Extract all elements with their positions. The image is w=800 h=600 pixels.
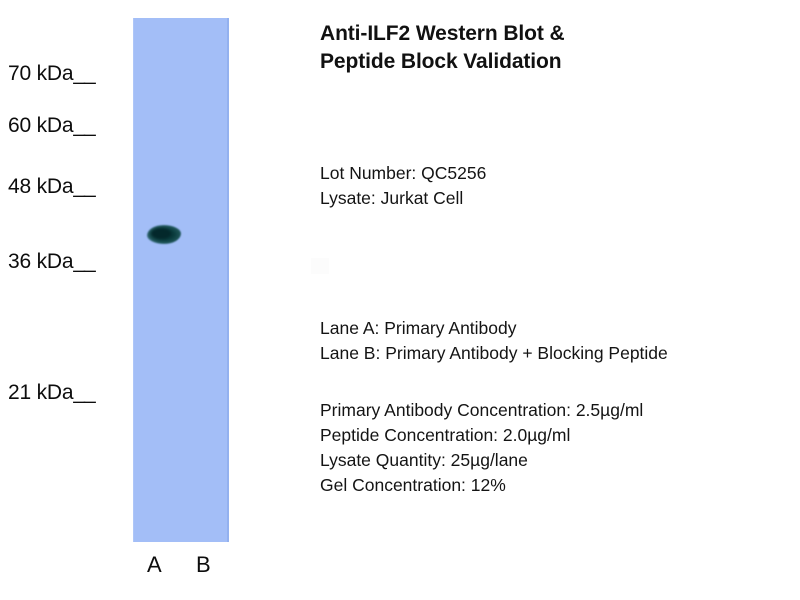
ladder-marker-36: 36 kDa__: [8, 250, 95, 274]
lysate-quantity-line: Lysate Quantity: 25µg/lane: [320, 448, 800, 473]
ladder-tick-icon: __: [73, 381, 94, 404]
lane-description-block: Lane A: Primary Antibody Lane B: Primary…: [320, 316, 800, 366]
ladder-marker-60: 60 kDa__: [8, 114, 95, 138]
molecular-weight-ladder: 70 kDa__ 60 kDa__ 48 kDa__ 36 kDa__ 21 k…: [0, 0, 132, 600]
figure-information-panel: Anti-ILF2 Western Blot & Peptide Block V…: [320, 0, 800, 600]
figure-title-line-2: Peptide Block Validation: [320, 48, 790, 76]
western-blot-membrane: [133, 18, 229, 542]
lane-label-a: A: [147, 552, 162, 578]
gel-concentration-line: Gel Concentration: 12%: [320, 473, 800, 498]
lysate-line: Lysate: Jurkat Cell: [320, 186, 800, 211]
lane-label-b: B: [196, 552, 211, 578]
primary-antibody-concentration-line: Primary Antibody Concentration: 2.5µg/ml: [320, 398, 800, 423]
ladder-marker-48: 48 kDa__: [8, 175, 95, 199]
lot-number-line: Lot Number: QC5256: [320, 161, 800, 186]
ladder-marker-label: 21 kDa: [8, 381, 73, 404]
ladder-marker-label: 70 kDa: [8, 62, 73, 85]
lane-a-description: Lane A: Primary Antibody: [320, 316, 800, 341]
figure-title-line-1: Anti-ILF2 Western Blot &: [320, 20, 790, 48]
ladder-marker-21: 21 kDa__: [8, 381, 95, 405]
figure-title: Anti-ILF2 Western Blot & Peptide Block V…: [320, 20, 790, 76]
lane-label-row: A B: [133, 552, 229, 586]
protein-band-lane-a: [147, 225, 181, 244]
protein-band-lane-b-absent: [185, 225, 219, 244]
ladder-marker-70: 70 kDa__: [8, 62, 95, 86]
sample-info-block: Lot Number: QC5256 Lysate: Jurkat Cell: [320, 161, 800, 211]
ladder-marker-label: 48 kDa: [8, 175, 73, 198]
peptide-concentration-line: Peptide Concentration: 2.0µg/ml: [320, 423, 800, 448]
ladder-tick-icon: __: [73, 175, 94, 198]
ladder-marker-label: 60 kDa: [8, 114, 73, 137]
ladder-marker-label: 36 kDa: [8, 250, 73, 273]
ladder-tick-icon: __: [73, 114, 94, 137]
ladder-tick-icon: __: [73, 62, 94, 85]
ladder-tick-icon: __: [73, 250, 94, 273]
protocol-details-block: Primary Antibody Concentration: 2.5µg/ml…: [320, 398, 800, 498]
lane-b-description: Lane B: Primary Antibody + Blocking Pept…: [320, 341, 800, 366]
